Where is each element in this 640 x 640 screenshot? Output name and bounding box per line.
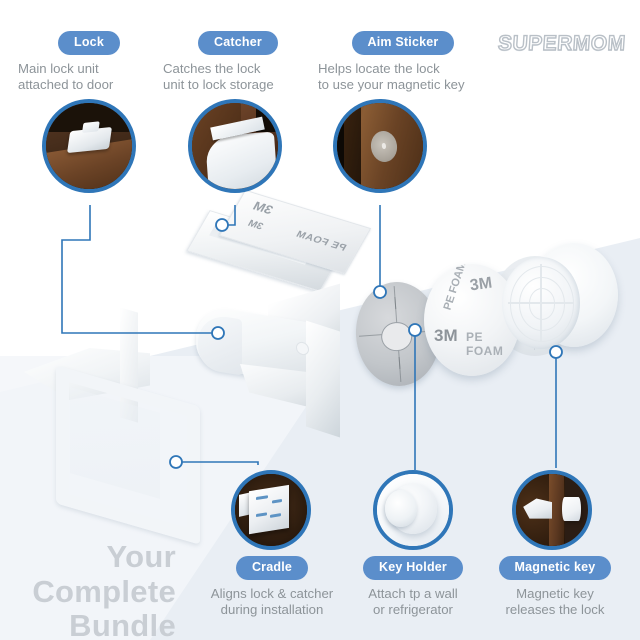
foam-disc-brand-top: 3M	[469, 275, 494, 296]
desc-cradle: Aligns lock & catcher during installatio…	[196, 586, 348, 620]
aim-tick-top	[395, 297, 397, 309]
thumbnail-magnetic-key[interactable]	[512, 470, 592, 550]
desc-aim-sticker: Helps locate the lock to use your magnet…	[318, 61, 488, 95]
badge-key-holder[interactable]: Key Holder	[363, 556, 463, 580]
callout-cradle: Cradle Aligns lock & catcher during inst…	[196, 556, 348, 619]
catcher-pefoam-label: PE FOAM	[294, 229, 348, 253]
product-lock-body	[196, 300, 346, 440]
callout-lock: Lock Main lock unit attached to door	[18, 31, 160, 94]
badge-magnetic-key[interactable]: Magnetic key	[499, 556, 612, 580]
brand-logo: SUPERMOM	[497, 32, 626, 56]
thumbnail-cradle[interactable]	[231, 470, 311, 550]
lock-mount-tab	[306, 320, 340, 437]
badge-lock[interactable]: Lock	[58, 31, 120, 55]
badge-cradle[interactable]: Cradle	[236, 556, 308, 580]
badge-aim-sticker[interactable]: Aim Sticker	[352, 31, 455, 55]
desc-lock: Main lock unit attached to door	[18, 61, 160, 95]
badge-catcher[interactable]: Catcher	[198, 31, 278, 55]
foam-disc-brand-main: 3M	[434, 326, 458, 346]
callout-aim-sticker: Aim Sticker Helps locate the lock to use…	[318, 31, 488, 94]
aim-bear-graphic	[380, 321, 412, 352]
desc-catcher: Catches the lock unit to lock storage	[163, 61, 313, 95]
callout-catcher: Catcher Catches the lock unit to lock st…	[163, 31, 313, 94]
product-magnetic-key	[502, 243, 620, 365]
desc-magnetic-key: Magnetic key releases the lock	[481, 586, 629, 620]
desc-key-holder: Attach tp a wall or refrigerator	[340, 586, 486, 620]
thumbnail-catcher[interactable]	[188, 99, 282, 193]
product-catcher: 3M PE FOAM 3M	[198, 205, 356, 283]
thumbnail-aim-sticker[interactable]	[333, 99, 427, 193]
aim-tick-bottom	[399, 357, 401, 369]
product-cradle	[24, 310, 196, 500]
callout-key-holder: Key Holder Attach tp a wall or refrigera…	[340, 556, 486, 619]
callout-magnetic-key: Magnetic key Magnetic key releases the l…	[481, 556, 629, 619]
thumbnail-key-holder[interactable]	[373, 470, 453, 550]
thumbnail-lock[interactable]	[42, 99, 136, 193]
catcher-3m-label-1: 3M	[250, 199, 275, 217]
catcher-3m-label-2: 3M	[246, 219, 265, 233]
magnetic-key-face	[502, 257, 580, 349]
infographic-canvas: 3M PE FOAM 3M PE FOAM 3M 3M PE FOAM	[0, 0, 640, 640]
hero-title: Your Complete Bundle	[18, 540, 176, 640]
